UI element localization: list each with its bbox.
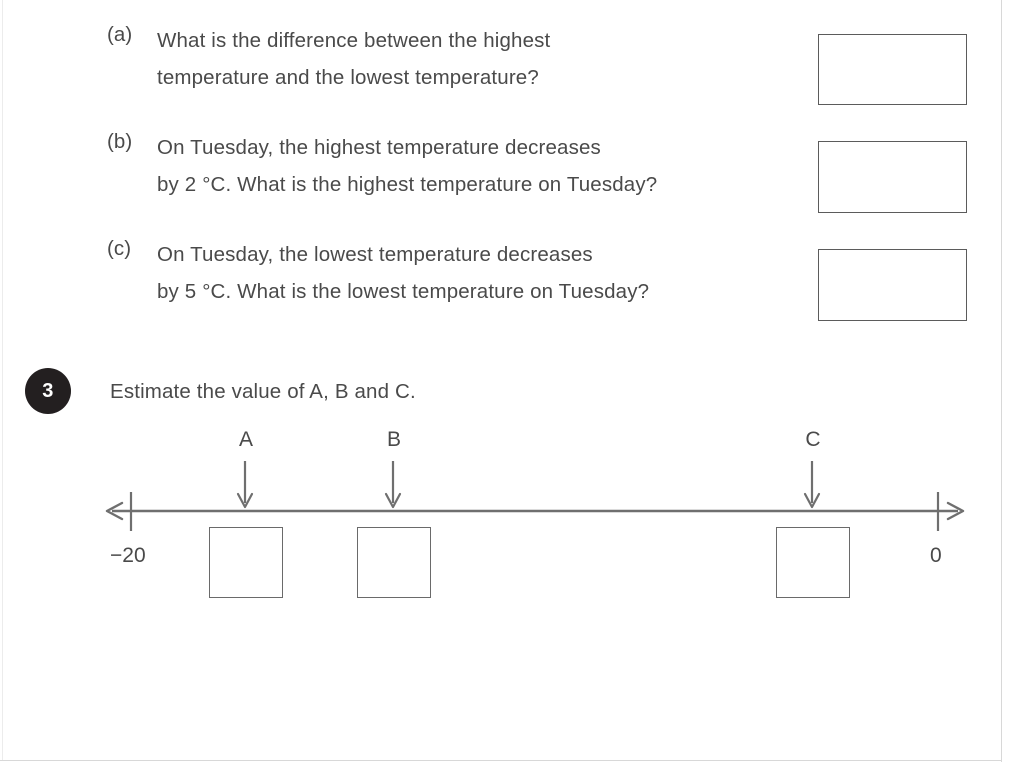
marker-label-b: B — [387, 429, 401, 450]
question-number-badge-3: 3 — [25, 368, 71, 414]
part-b-text: On Tuesday, the highest temperature decr… — [157, 129, 657, 203]
answer-box-marker-c[interactable] — [776, 527, 850, 598]
answer-box-marker-b[interactable] — [357, 527, 431, 598]
answer-box-part-c[interactable] — [818, 249, 967, 321]
part-c-text-line-1: On Tuesday, the lowest temperature decre… — [157, 236, 649, 273]
question-3-text: Estimate the value of A, B and C. — [110, 378, 416, 406]
part-a-text-line-1: What is the difference between the highe… — [157, 22, 550, 59]
page-bottom-edge — [0, 760, 1001, 761]
answer-box-part-a[interactable] — [818, 34, 967, 105]
marker-label-c: C — [805, 429, 820, 450]
answer-box-marker-a[interactable] — [209, 527, 283, 598]
number-line-label-zero: 0 — [930, 545, 942, 566]
part-a-text-line-2: temperature and the lowest temperature? — [157, 59, 550, 96]
answer-box-part-b[interactable] — [818, 141, 967, 213]
part-a-text: What is the difference between the highe… — [157, 22, 550, 96]
marker-label-a: A — [239, 429, 253, 450]
number-line-label-minus20: −20 — [110, 545, 146, 566]
part-a-label: (a) — [107, 22, 151, 48]
part-c-text-line-2: by 5 °C. What is the lowest temperature … — [157, 273, 649, 310]
part-b-label: (b) — [107, 129, 151, 155]
number-line-diagram — [0, 415, 1024, 615]
marker-arrow-b — [386, 461, 400, 507]
page-left-edge — [2, 0, 3, 760]
number-line-svg — [0, 415, 1024, 615]
page-right-edge — [1001, 0, 1002, 762]
marker-arrow-c — [805, 461, 819, 507]
worksheet-page: (a) What is the difference between the h… — [0, 0, 1024, 768]
part-c-label: (c) — [107, 236, 151, 262]
marker-arrow-a — [238, 461, 252, 507]
part-b-text-line-2: by 2 °C. What is the highest temperature… — [157, 166, 657, 203]
part-b-text-line-1: On Tuesday, the highest temperature decr… — [157, 129, 657, 166]
part-c-text: On Tuesday, the lowest temperature decre… — [157, 236, 649, 310]
